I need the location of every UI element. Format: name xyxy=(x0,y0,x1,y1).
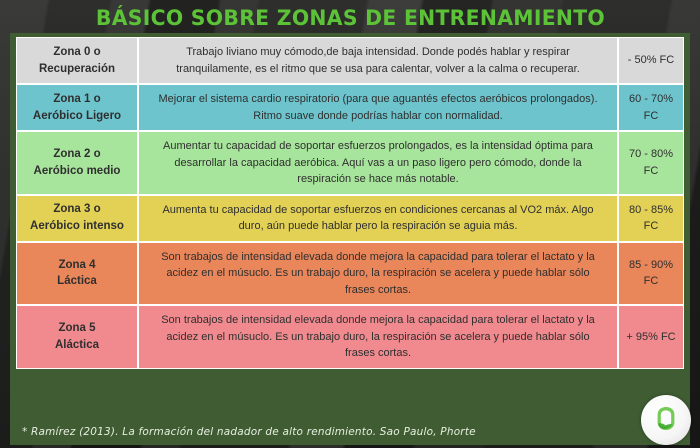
table-frame: Zona 0 o Recuperación Trabajo liviano mu… xyxy=(10,33,690,445)
table-row: Zona 0 o Recuperación Trabajo liviano mu… xyxy=(16,37,684,84)
zone-name-line-2: Recuperación xyxy=(21,61,133,78)
zone-name-line-2: Aeróbico Ligero xyxy=(21,108,133,125)
zone-name-line-2: Aeróbico medio xyxy=(21,163,133,180)
table-row: Zona 2 o Aeróbico medio Aumentar tu capa… xyxy=(16,131,684,195)
zone-name-line-1: Zona 2 o xyxy=(21,146,133,163)
brand-logo xyxy=(641,395,691,445)
zone-name-line-2: Aláctica xyxy=(21,337,133,354)
zone-name-line-1: Zona 3 o xyxy=(21,201,133,218)
source-citation: * Ramírez (2013). La formación del nadad… xyxy=(10,426,476,438)
zone-fc-cell: 80 - 85% FC xyxy=(618,195,684,242)
zone-name-cell: Zona 2 o Aeróbico medio xyxy=(16,131,138,195)
zone-name-line-1: Zona 5 xyxy=(21,320,133,337)
zone-name-line-2: Aeróbico intenso xyxy=(21,218,133,235)
title-bar: BÁSICO SOBRE ZONAS DE ENTRENAMIENTO xyxy=(0,0,700,36)
zone-description-cell: Son trabajos de intensidad elevada donde… xyxy=(138,242,618,306)
zone-description-cell: Mejorar el sistema cardio respiratorio (… xyxy=(138,84,618,131)
zone-fc-cell: 85 - 90% FC xyxy=(618,242,684,306)
zone-name-cell: Zona 0 o Recuperación xyxy=(16,37,138,84)
zone-name-cell: Zona 3 o Aeróbico intenso xyxy=(16,195,138,242)
zone-description-cell: Aumenta tu capacidad de soportar esfuerz… xyxy=(138,195,618,242)
zone-name-cell: Zona 4 Láctica xyxy=(16,242,138,306)
zone-name-line-1: Zona 4 xyxy=(21,257,133,274)
zone-description-cell: Son trabajos de intensidad elevada donde… xyxy=(138,305,618,369)
leaf-logo-icon xyxy=(649,403,683,437)
zone-description-cell: Trabajo liviano muy cómodo,de baja inten… xyxy=(138,37,618,84)
table-row: Zona 3 o Aeróbico intenso Aumenta tu cap… xyxy=(16,195,684,242)
zone-name-line-1: Zona 0 o xyxy=(21,44,133,61)
table-row: Zona 4 Láctica Son trabajos de intensida… xyxy=(16,242,684,306)
zone-name-cell: Zona 5 Aláctica xyxy=(16,305,138,369)
page-title: BÁSICO SOBRE ZONAS DE ENTRENAMIENTO xyxy=(95,6,604,30)
zone-name-line-2: Láctica xyxy=(21,273,133,290)
table-body: Zona 0 o Recuperación Trabajo liviano mu… xyxy=(16,37,684,369)
footnote-band: * Ramírez (2013). La formación del nadad… xyxy=(10,418,690,445)
training-zones-table: Zona 0 o Recuperación Trabajo liviano mu… xyxy=(16,37,684,369)
zone-fc-cell: 70 - 80% FC xyxy=(618,131,684,195)
zone-description-cell: Aumentar tu capacidad de soportar esfuer… xyxy=(138,131,618,195)
zone-fc-cell: + 95% FC xyxy=(618,305,684,369)
zone-fc-cell: - 50% FC xyxy=(618,37,684,84)
table-row: Zona 1 o Aeróbico Ligero Mejorar el sist… xyxy=(16,84,684,131)
table-row: Zona 5 Aláctica Son trabajos de intensid… xyxy=(16,305,684,369)
zone-name-line-1: Zona 1 o xyxy=(21,91,133,108)
zone-name-cell: Zona 1 o Aeróbico Ligero xyxy=(16,84,138,131)
zone-fc-cell: 60 - 70% FC xyxy=(618,84,684,131)
